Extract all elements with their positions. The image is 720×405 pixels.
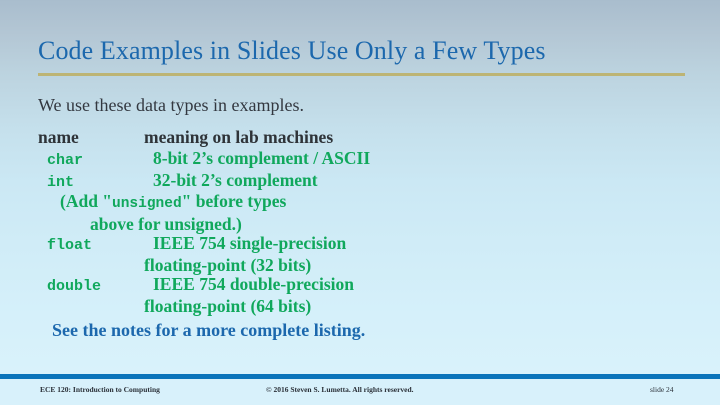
header-meaning: meaning on lab machines: [144, 127, 508, 148]
type-name-int: int: [38, 173, 153, 193]
unsigned-keyword: unsigned: [112, 196, 182, 212]
type-meaning-char: 8-bit 2’s complement / ASCII: [153, 149, 508, 169]
footer-slide-number: slide 24: [650, 385, 674, 395]
notes-callout: See the notes for a more complete listin…: [52, 319, 365, 341]
intro-text: We use these data types in examples.: [38, 94, 304, 116]
slide-canvas: Code Examples in Slides Use Only a Few T…: [0, 0, 720, 405]
table-row: float IEEE 754 single-precision: [38, 234, 508, 256]
footer-copyright: © 2016 Steven S. Lumetta. All rights res…: [266, 385, 414, 395]
table-row: double IEEE 754 double-precision: [38, 275, 508, 297]
title-divider: [38, 73, 685, 76]
type-name-float: float: [38, 236, 153, 256]
unsigned-note-part2: " before types: [182, 191, 287, 211]
type-meaning-float-line2: floating-point (32 bits): [144, 256, 508, 276]
unsigned-note-text: (Add "unsigned" before types: [38, 192, 508, 215]
table-row: char 8-bit 2’s complement / ASCII: [38, 149, 508, 171]
unsigned-note-part1: (Add ": [60, 191, 112, 211]
double-continuation-row: floating-point (64 bits): [38, 297, 508, 317]
header-name: name: [38, 127, 144, 148]
unsigned-note-text-line2: above for unsigned.): [38, 215, 508, 235]
footer-course: ECE 120: Introduction to Computing: [40, 385, 160, 395]
unsigned-note-line1: (Add "unsigned" before types: [38, 192, 508, 215]
unsigned-note-line2: above for unsigned.): [38, 215, 508, 235]
type-name-double: double: [38, 277, 153, 297]
table-row: int 32-bit 2’s complement: [38, 171, 508, 193]
type-meaning-double: IEEE 754 double-precision: [153, 275, 508, 295]
type-meaning-double-line2: floating-point (64 bits): [144, 297, 508, 317]
table-header-row: name meaning on lab machines: [38, 127, 508, 148]
slide-title: Code Examples in Slides Use Only a Few T…: [38, 36, 688, 66]
float-continuation-row: floating-point (32 bits): [38, 256, 508, 276]
type-name-char: char: [38, 151, 153, 171]
type-meaning-int: 32-bit 2’s complement: [153, 171, 508, 191]
data-types-table: name meaning on lab machines char 8-bit …: [38, 127, 508, 316]
type-meaning-float: IEEE 754 single-precision: [153, 234, 508, 254]
